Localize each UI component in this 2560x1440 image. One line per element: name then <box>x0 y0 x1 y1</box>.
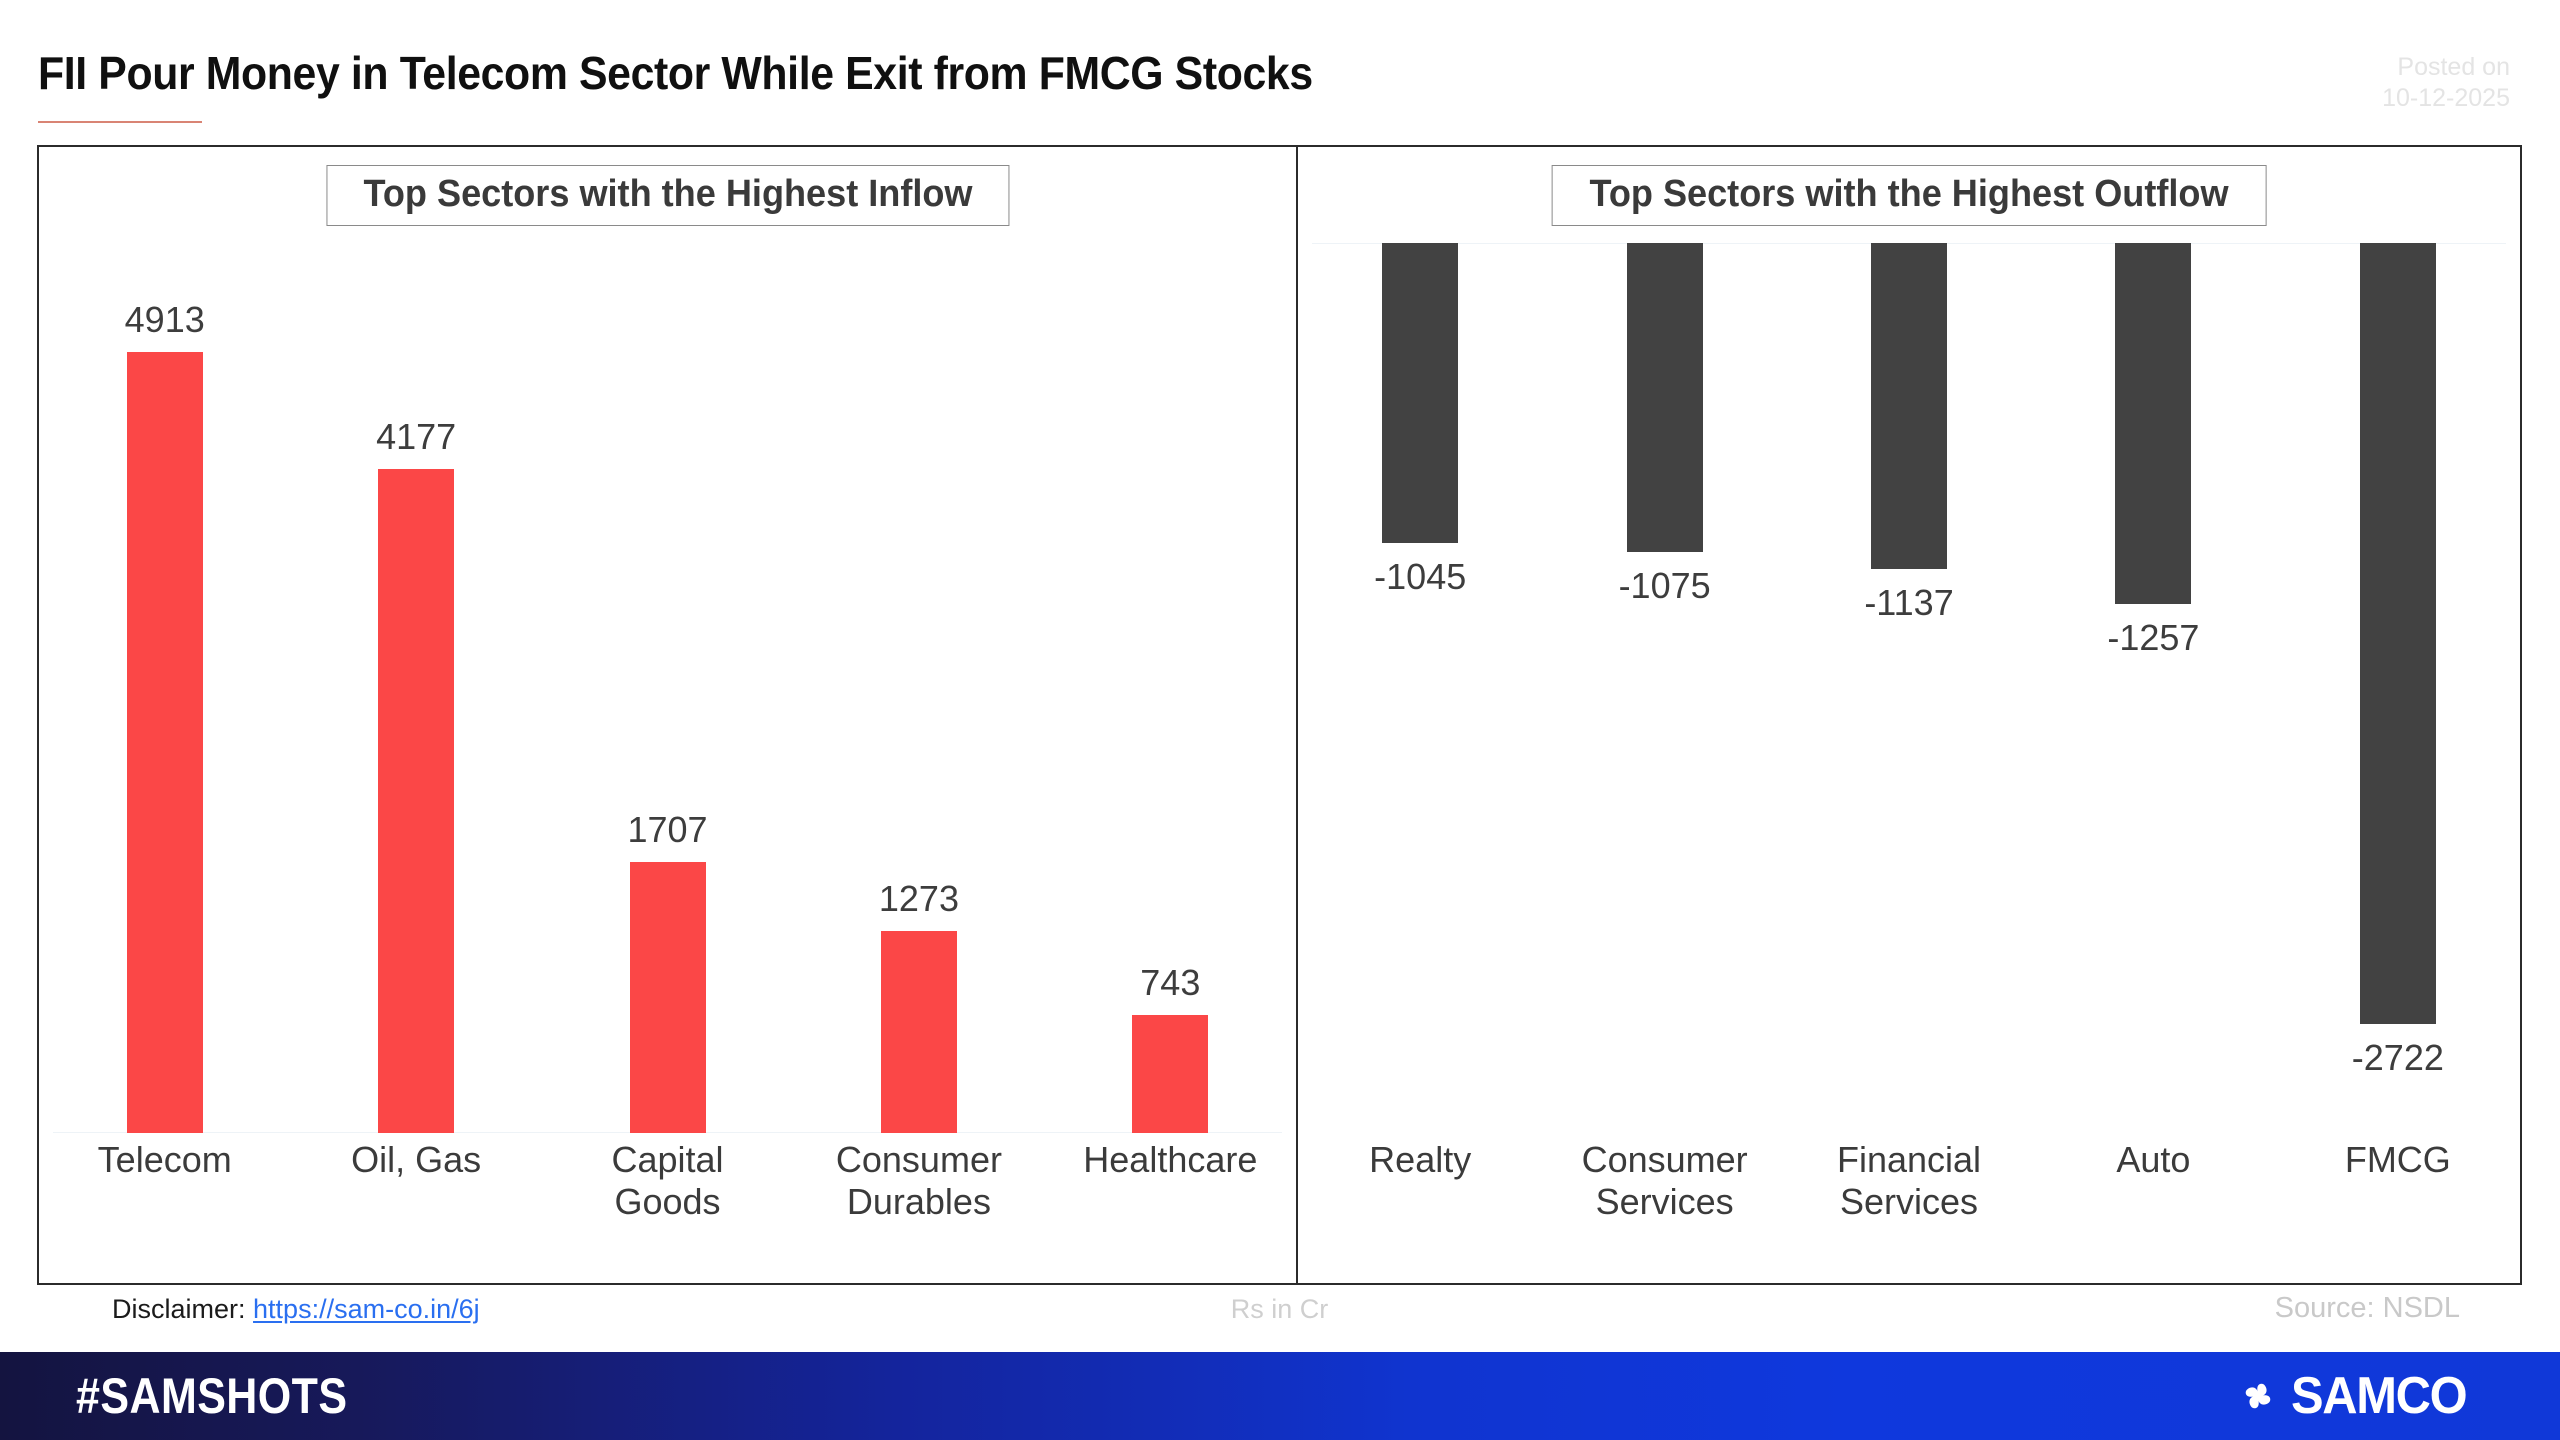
footer-bar: #SAMSHOTS SAMCO <box>0 1352 2560 1440</box>
inflow-bar-group: 4913417717071273743 <box>39 243 1296 1133</box>
posted-on-block: Posted on 10-12-2025 <box>2382 52 2510 113</box>
brand-name: SAMCO <box>2291 1366 2466 1426</box>
bar-value-label: -1045 <box>1374 559 1466 595</box>
category-label: FinancialServices <box>1787 1139 2031 1259</box>
title-underline <box>38 121 202 123</box>
inflow-panel-heading-text: Top Sectors with the Highest Inflow <box>363 173 972 216</box>
category-label: Telecom <box>39 1139 290 1259</box>
bar-value-label: -1075 <box>1619 568 1711 604</box>
bar <box>2360 243 2436 1024</box>
outflow-panel-heading: Top Sectors with the Highest Outflow <box>1552 165 2267 226</box>
category-label-line: Healthcare <box>1049 1139 1292 1181</box>
inflow-panel-heading: Top Sectors with the Highest Inflow <box>326 165 1009 226</box>
category-label-line: Auto <box>2035 1139 2271 1181</box>
bar-value-label: -1137 <box>1864 585 1953 621</box>
disclaimer-label: Disclaimer: <box>112 1294 246 1324</box>
caption-row: Disclaimer: https://sam-co.in/6j Rs in C… <box>37 1292 2522 1338</box>
outflow-panel-heading-text: Top Sectors with the Highest Outflow <box>1589 173 2228 216</box>
samco-pinwheel-icon <box>2235 1373 2281 1419</box>
category-label-line: Financial <box>1791 1139 2027 1181</box>
inflow-plot-area: 4913417717071273743 <box>39 243 1296 1133</box>
bar-value-label: 1273 <box>879 881 959 917</box>
bar-value-label: 4913 <box>125 302 205 338</box>
bar <box>881 931 957 1133</box>
category-label-line: Telecom <box>43 1139 286 1181</box>
category-label-line: Services <box>1791 1181 2027 1223</box>
bar-value-label: -1257 <box>2107 620 2199 656</box>
bar-item: 1273 <box>793 243 1044 1133</box>
category-label-line: Goods <box>546 1181 789 1223</box>
bar-item: -1045 <box>1298 243 1542 1133</box>
category-label-line: Realty <box>1302 1139 1538 1181</box>
page-title: FII Pour Money in Telecom Sector While E… <box>38 46 1313 100</box>
bar <box>1382 243 1458 543</box>
bar-item: -1137 <box>1787 243 2031 1133</box>
brand-lockup: SAMCO <box>2235 1366 2478 1426</box>
source-note: Source: NSDL <box>2275 1292 2460 1325</box>
bar <box>1871 243 1947 569</box>
category-label-line: FMCG <box>2280 1139 2516 1181</box>
category-label: ConsumerServices <box>1542 1139 1786 1259</box>
inflow-panel: Top Sectors with the Highest Inflow 4913… <box>39 147 1298 1283</box>
bar-item: -1075 <box>1542 243 1786 1133</box>
bar <box>1132 1015 1208 1133</box>
bar <box>378 469 454 1133</box>
bar-item: -2722 <box>2276 243 2520 1133</box>
infographic-root: FII Pour Money in Telecom Sector While E… <box>0 0 2560 1440</box>
bar <box>1627 243 1703 552</box>
category-label: CapitalGoods <box>542 1139 793 1259</box>
bar <box>127 352 203 1133</box>
posted-on-date: 10-12-2025 <box>2382 83 2510 114</box>
posted-on-label: Posted on <box>2382 52 2510 83</box>
bar-value-label: 743 <box>1140 965 1200 1001</box>
bar <box>630 862 706 1133</box>
bar <box>2115 243 2191 604</box>
category-label-line: Services <box>1546 1181 1782 1223</box>
category-label-line: Consumer <box>1546 1139 1782 1181</box>
bar-value-label: 1707 <box>627 812 707 848</box>
bar-item: 1707 <box>542 243 793 1133</box>
category-label: Oil, Gas <box>290 1139 541 1259</box>
category-label-line: Consumer <box>797 1139 1040 1181</box>
bar-value-label: 4177 <box>376 419 456 455</box>
category-label: Auto <box>2031 1139 2275 1259</box>
category-label-line: Durables <box>797 1181 1040 1223</box>
inflow-category-axis: TelecomOil, GasCapitalGoodsConsumerDurab… <box>39 1139 1296 1259</box>
hashtag-label: #SAMSHOTS <box>76 1367 347 1425</box>
bar-item: -1257 <box>2031 243 2275 1133</box>
bar-item: 743 <box>1045 243 1296 1133</box>
disclaimer-link[interactable]: https://sam-co.in/6j <box>253 1294 480 1324</box>
category-label: Realty <box>1298 1139 1542 1259</box>
category-label-line: Capital <box>546 1139 789 1181</box>
category-label-line: Oil, Gas <box>294 1139 537 1181</box>
outflow-plot-area: -1045-1075-1137-1257-2722 <box>1298 243 2520 1133</box>
outflow-category-axis: RealtyConsumerServicesFinancialServicesA… <box>1298 1139 2520 1259</box>
charts-frame: Top Sectors with the Highest Inflow 4913… <box>37 145 2522 1285</box>
category-label: FMCG <box>2276 1139 2520 1259</box>
outflow-panel: Top Sectors with the Highest Outflow -10… <box>1298 147 2520 1283</box>
bar-value-label: -2722 <box>2352 1040 2444 1076</box>
bar-item: 4177 <box>290 243 541 1133</box>
category-label: Healthcare <box>1045 1139 1296 1259</box>
outflow-bar-group: -1045-1075-1137-1257-2722 <box>1298 243 2520 1133</box>
bar-item: 4913 <box>39 243 290 1133</box>
category-label: ConsumerDurables <box>793 1139 1044 1259</box>
units-note: Rs in Cr <box>1231 1294 1329 1325</box>
disclaimer: Disclaimer: https://sam-co.in/6j <box>112 1294 480 1325</box>
